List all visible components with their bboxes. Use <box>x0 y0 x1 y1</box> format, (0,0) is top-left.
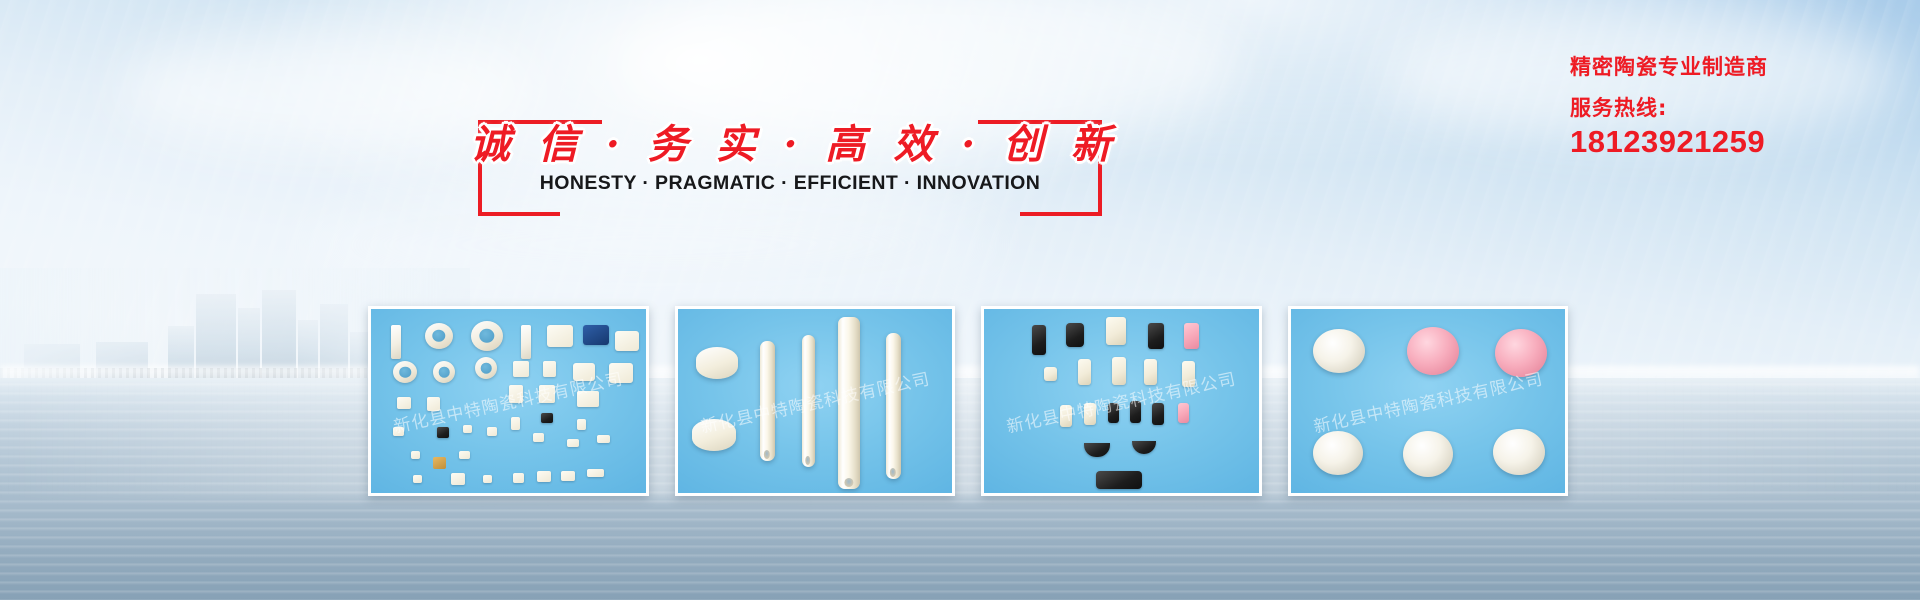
hotline-label: 服务热线: <box>1570 94 1860 122</box>
product-card-smd-components[interactable]: 新化县中特陶瓷科技有限公司 <box>368 306 649 496</box>
hotline-phone-number[interactable]: 18123921259 <box>1570 125 1860 159</box>
contact-block: 精密陶瓷专业制造商 服务热线: 18123921259 <box>1570 52 1860 159</box>
product-card-ceramic-blocks[interactable]: 新化县中特陶瓷科技有限公司 <box>981 306 1262 496</box>
slogan-chinese: 诚 信 · 务 实 · 高 效 · 创 新 <box>470 112 1110 170</box>
slogan-english: HONESTY · PRAGMATIC · EFFICIENT · INNOVA… <box>470 172 1110 195</box>
product-card-ceramic-discs[interactable]: 新化县中特陶瓷科技有限公司 <box>1288 306 1569 496</box>
slogan-block: 诚 信 · 务 实 · 高 效 · 创 新 HONESTY · PRAGMATI… <box>470 108 1110 214</box>
product-gallery: 新化县中特陶瓷科技有限公司 新化县中特陶瓷科技有限公司 <box>368 306 1568 496</box>
product-card-ceramic-tubes[interactable]: 新化县中特陶瓷科技有限公司 <box>675 306 956 496</box>
company-tagline: 精密陶瓷专业制造商 <box>1570 52 1860 82</box>
hero-banner: 诚 信 · 务 实 · 高 效 · 创 新 HONESTY · PRAGMATI… <box>0 0 1920 600</box>
card-background <box>678 309 953 493</box>
